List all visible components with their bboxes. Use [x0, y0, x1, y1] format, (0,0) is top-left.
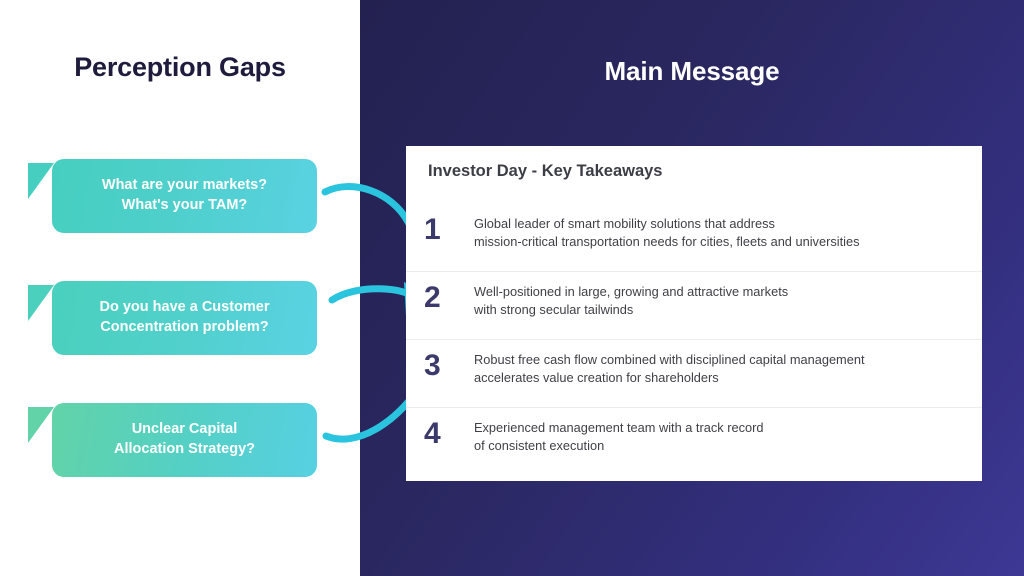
takeaway-number: 4 — [424, 417, 474, 449]
takeaway-number: 3 — [424, 349, 474, 381]
bubble-text-block: Do you have a Customer Concentration pro… — [99, 298, 269, 337]
takeaway-line-1: Experienced management team with a track… — [474, 419, 968, 437]
bubble-text-block: Unclear Capital Allocation Strategy? — [114, 420, 255, 459]
takeaway-line-2: with strong secular tailwinds — [474, 301, 968, 319]
takeaway-line-1: Robust free cash flow combined with disc… — [474, 351, 968, 369]
bubble-line-2: Allocation Strategy? — [114, 440, 255, 460]
bubble-line-1: Do you have a Customer — [99, 298, 269, 318]
bubble-tail-icon — [28, 163, 54, 199]
card-title: Investor Day - Key Takeaways — [428, 162, 662, 181]
takeaway-number: 2 — [424, 281, 474, 313]
key-takeaways-card: Investor Day - Key Takeaways 1 Global le… — [406, 146, 982, 481]
takeaway-row[interactable]: 4 Experienced management team with a tra… — [406, 408, 982, 476]
takeaway-text: Experienced management team with a track… — [474, 417, 968, 455]
main-message-title: Main Message — [360, 56, 1024, 87]
bubble-text-block: What are your markets? What's your TAM? — [102, 176, 267, 215]
takeaway-text: Robust free cash flow combined with disc… — [474, 349, 968, 387]
takeaway-row[interactable]: 2 Well-positioned in large, growing and … — [406, 272, 982, 340]
speech-bubble-capital-allocation[interactable]: Unclear Capital Allocation Strategy? — [52, 403, 317, 477]
takeaway-line-2: mission-critical transportation needs fo… — [474, 233, 968, 251]
takeaway-row[interactable]: 1 Global leader of smart mobility soluti… — [406, 204, 982, 272]
bubble-line-2: What's your TAM? — [102, 196, 267, 216]
speech-bubble-markets-tam[interactable]: What are your markets? What's your TAM? — [52, 159, 317, 233]
bubble-tail-icon — [28, 407, 54, 443]
takeaway-line-1: Well-positioned in large, growing and at… — [474, 283, 968, 301]
bubble-line-1: Unclear Capital — [114, 420, 255, 440]
takeaway-line-2: accelerates value creation for sharehold… — [474, 369, 968, 387]
bubble-line-1: What are your markets? — [102, 176, 267, 196]
takeaway-row[interactable]: 3 Robust free cash flow combined with di… — [406, 340, 982, 408]
slide-canvas: Perception Gaps Main Message What are yo… — [0, 0, 1024, 576]
takeaway-line-1: Global leader of smart mobility solution… — [474, 215, 968, 233]
takeaway-text: Well-positioned in large, growing and at… — [474, 281, 968, 319]
takeaway-number: 1 — [424, 213, 474, 245]
bubble-line-2: Concentration problem? — [99, 318, 269, 338]
perception-gaps-title: Perception Gaps — [0, 52, 360, 83]
bubble-tail-icon — [28, 285, 54, 321]
takeaway-text: Global leader of smart mobility solution… — [474, 213, 968, 251]
speech-bubble-customer-concentration[interactable]: Do you have a Customer Concentration pro… — [52, 281, 317, 355]
takeaway-line-2: of consistent execution — [474, 437, 968, 455]
takeaways-list: 1 Global leader of smart mobility soluti… — [406, 204, 982, 476]
